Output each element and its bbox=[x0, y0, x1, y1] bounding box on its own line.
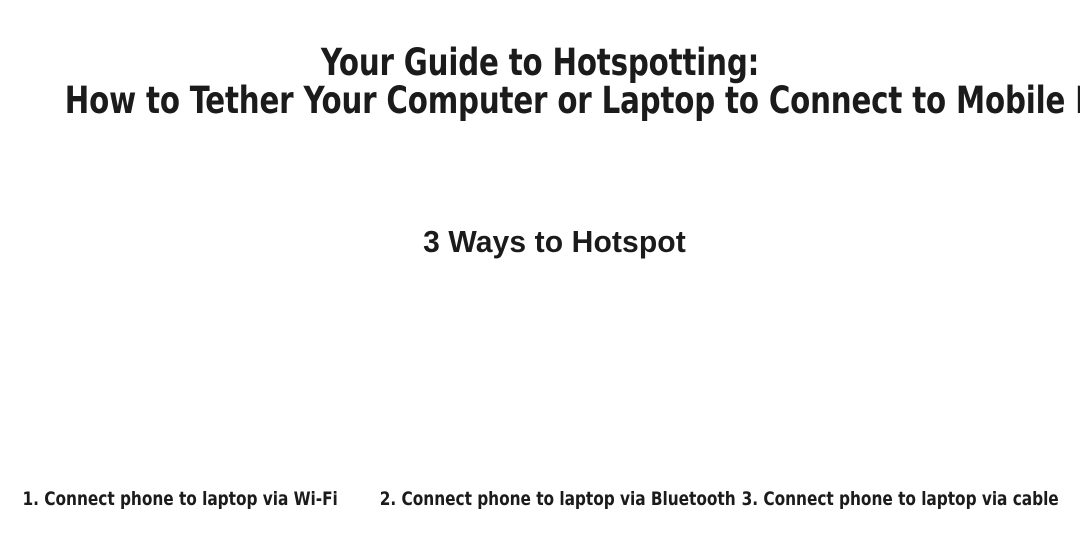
method-item-wifi: 1. Connect phone to laptop via Wi-Fi bbox=[0, 487, 360, 511]
method-item-bluetooth: 2. Connect phone to laptop via Bluetooth bbox=[360, 487, 720, 511]
page-title-line-2: How to Tether Your Computer or Laptop to… bbox=[65, 82, 1015, 120]
page-title: Your Guide to Hotspotting: How to Tether… bbox=[0, 44, 1080, 120]
method-caption-row: 1. Connect phone to laptop via Wi-Fi 2. … bbox=[0, 487, 1080, 511]
illustration-slot-bluetooth bbox=[360, 278, 720, 478]
method-caption-wifi: 1. Connect phone to laptop via Wi-Fi bbox=[22, 487, 337, 511]
section-heading: 3 Ways to Hotspot bbox=[0, 224, 1080, 260]
illustration-slot-cable bbox=[720, 278, 1080, 478]
infographic-page: Your Guide to Hotspotting: How to Tether… bbox=[0, 0, 1080, 552]
page-title-line-1: Your Guide to Hotspotting: bbox=[65, 44, 1015, 82]
method-caption-bluetooth: 2. Connect phone to laptop via Bluetooth bbox=[380, 487, 736, 511]
method-caption-cable: 3. Connect phone to laptop via cable bbox=[741, 487, 1058, 511]
illustration-band bbox=[0, 278, 1080, 478]
section-heading-label: 3 Ways to Hotspot bbox=[423, 224, 686, 260]
illustration-slot-wifi bbox=[0, 278, 360, 478]
method-item-cable: 3. Connect phone to laptop via cable bbox=[720, 487, 1080, 511]
